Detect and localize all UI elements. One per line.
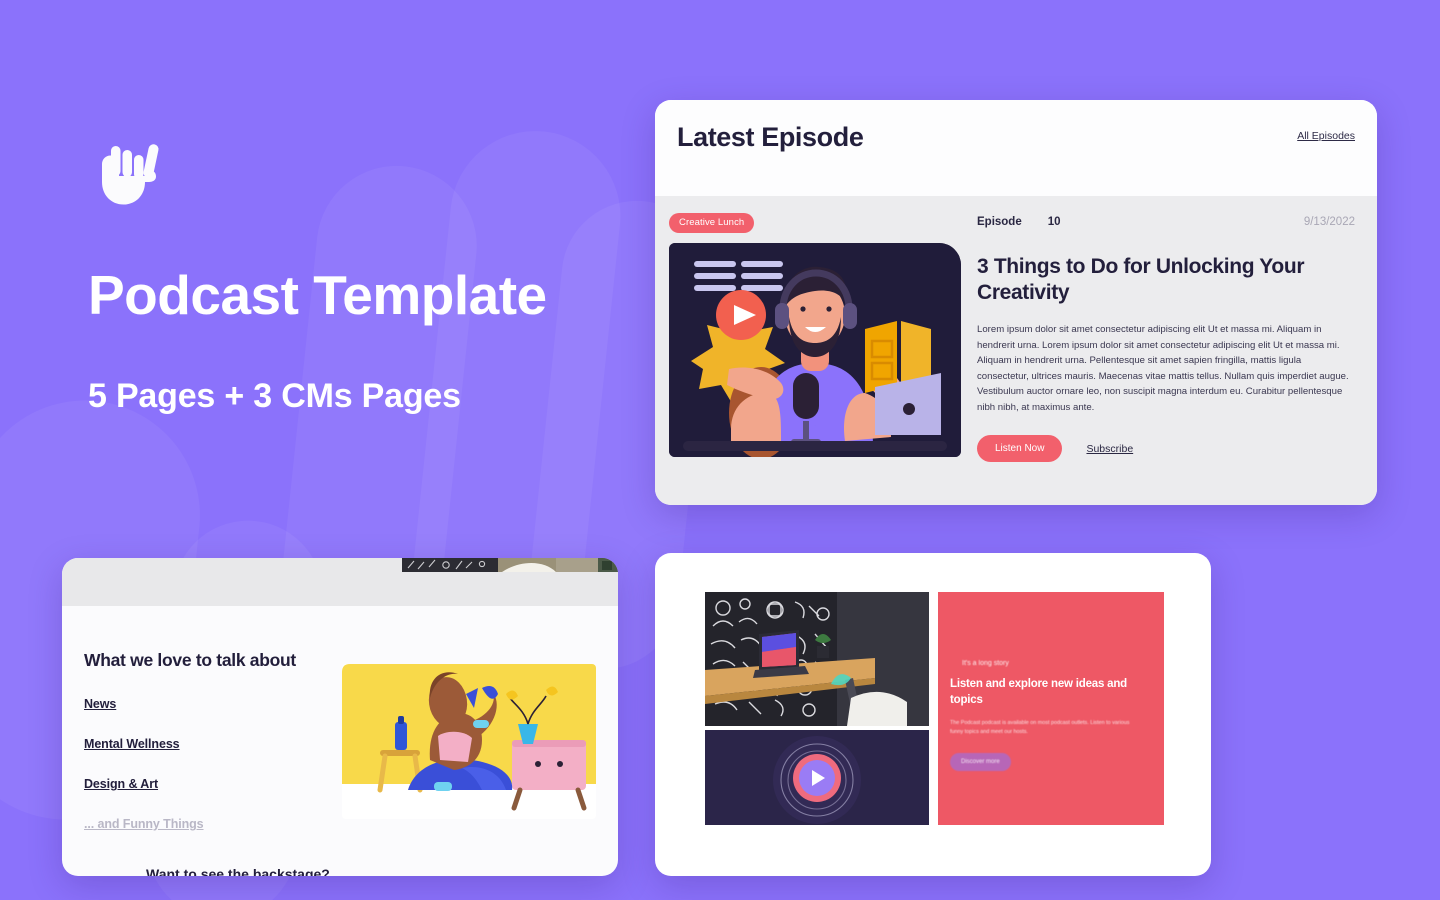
episode-media-column: Creative Lunch (669, 212, 961, 505)
promo-heading: Listen and explore new ideas and topics (950, 677, 1142, 708)
topic-link-funny-things[interactable]: ... and Funny Things (84, 817, 336, 831)
episode-detail-column: Episode 10 9/13/2022 3 Things to Do for … (977, 212, 1355, 505)
episode-number: 10 (1048, 216, 1061, 228)
hang-loose-hand-icon (88, 140, 166, 210)
topic-link-design-art[interactable]: Design & Art (84, 777, 336, 791)
photo-peek-svg (402, 558, 618, 572)
all-episodes-link[interactable]: All Episodes (1297, 130, 1355, 142)
latest-episode-header: Latest Episode All Episodes (655, 100, 1377, 196)
category-badge[interactable]: Creative Lunch (669, 213, 754, 233)
promo-text-panel: It's a long story Listen and explore new… (938, 592, 1164, 825)
topics-content: What we love to talk about News Mental W… (62, 606, 618, 831)
episode-title: 3 Things to Do for Unlocking Your Creati… (977, 254, 1355, 305)
topic-link-news[interactable]: News (84, 697, 336, 711)
page-title: Podcast Template (88, 266, 648, 325)
episode-date: 9/13/2022 (1304, 216, 1355, 228)
episode-actions: Listen Now Subscribe (977, 435, 1355, 462)
desk-photo (705, 592, 929, 726)
topic-link-mental-wellness[interactable]: Mental Wellness (84, 737, 336, 751)
latest-episode-title: Latest Episode (677, 122, 863, 153)
woman-illustration (342, 664, 596, 819)
topics-heading: What we love to talk about (84, 650, 336, 671)
topics-card: What we love to talk about News Mental W… (62, 558, 618, 876)
podcaster-illustration-svg (669, 243, 961, 457)
woman-illustration-svg (342, 664, 596, 819)
topics-footer-heading: Want to see the backstage? (146, 866, 330, 876)
episode-label: Episode (977, 216, 1022, 228)
episode-description: Lorem ipsum dolor sit amet consectetur a… (977, 322, 1355, 415)
topics-links-column: What we love to talk about News Mental W… (84, 650, 336, 831)
listen-now-button[interactable]: Listen Now (977, 435, 1062, 462)
promo-eyebrow: It's a long story (962, 660, 1142, 667)
hero-section: Podcast Template 5 Pages + 3 CMs Pages (88, 140, 648, 421)
latest-episode-body: Creative Lunch (655, 196, 1377, 505)
podcaster-illustration (669, 243, 961, 457)
hero-subtitle: 5 Pages + 3 CMs Pages (88, 373, 648, 421)
discover-more-button[interactable]: Discover more (950, 753, 1011, 771)
photo-peek-strip (402, 558, 618, 572)
promo-grid: It's a long story Listen and explore new… (705, 592, 1164, 825)
promo-body: The Podcast podcast is available on most… (950, 719, 1142, 737)
subscribe-link[interactable]: Subscribe (1086, 443, 1133, 455)
promo-card: It's a long story Listen and explore new… (655, 553, 1211, 876)
play-button-icon[interactable] (705, 730, 929, 825)
audio-player-panel[interactable] (705, 730, 929, 825)
episode-meta-row: Episode 10 9/13/2022 (977, 216, 1355, 228)
latest-episode-card: Latest Episode All Episodes Creative Lun… (655, 100, 1377, 505)
desk-photo-svg (705, 592, 929, 726)
